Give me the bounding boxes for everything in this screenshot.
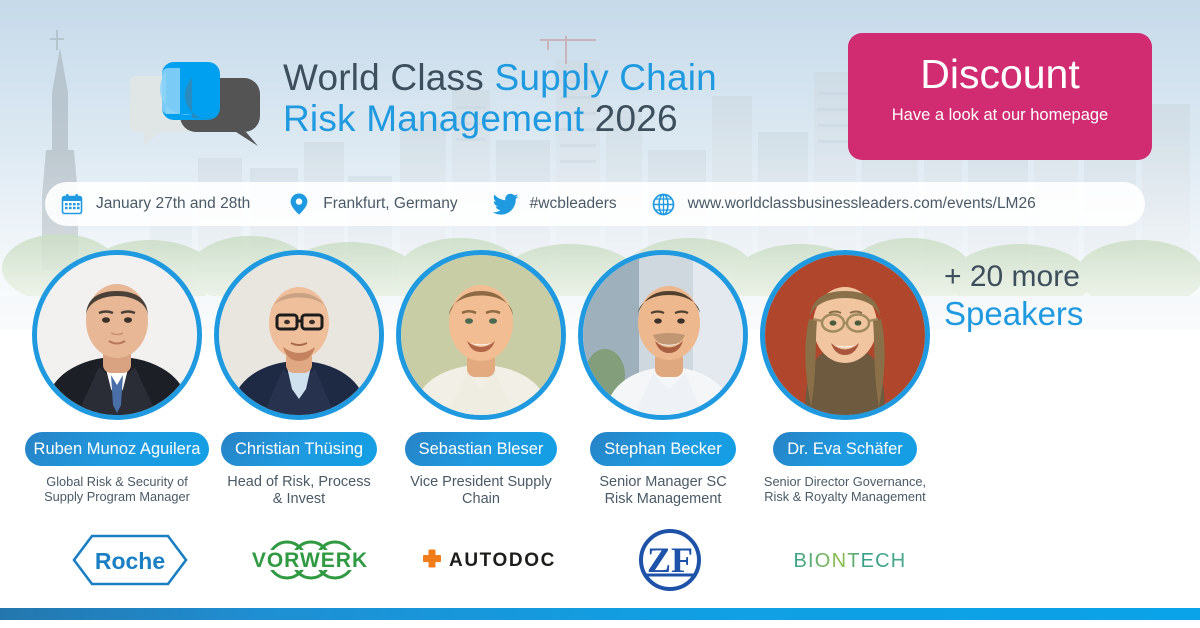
- twitter-icon: [493, 191, 519, 217]
- info-date-text: January 27th and 28th: [96, 195, 250, 213]
- speaker-photo-4: [578, 250, 748, 420]
- speaker-card-5[interactable]: Dr. Eva Schäfer Senior Director Governan…: [753, 250, 937, 505]
- speaker-role-5: Senior Director Governance, Risk & Royal…: [753, 474, 937, 505]
- speaker-photo-3: [396, 250, 566, 420]
- speaker-card-1[interactable]: Ruben Munoz Aguilera Global Risk & Secur…: [25, 250, 209, 505]
- vorwerk-logo: VORWERK: [243, 532, 378, 588]
- speaker-card-2[interactable]: Christian Thüsing Head of Risk, Process …: [207, 250, 391, 509]
- svg-text:Roche: Roche: [95, 548, 165, 574]
- speaker-card-3[interactable]: Sebastian Bleser Vice President Supply C…: [389, 250, 573, 509]
- title-supply-chain: Supply Chain: [494, 57, 717, 98]
- info-item-twitter[interactable]: #wcbleaders: [493, 182, 617, 226]
- speaker-name-3: Sebastian Bleser: [405, 432, 558, 466]
- speaker-name-2: Christian Thüsing: [221, 432, 377, 466]
- svg-text:ZF: ZF: [647, 540, 693, 580]
- speaker-card-4[interactable]: Stephan Becker Senior Manager SC Risk Ma…: [571, 250, 755, 509]
- title-line-2: Risk Management 2026: [283, 98, 717, 139]
- calendar-icon: [59, 191, 85, 217]
- promo-banner: World Class Supply Chain Risk Management…: [0, 0, 1200, 628]
- info-item-website[interactable]: www.worldclassbusinessleaders.com/events…: [651, 182, 1036, 226]
- bottom-accent-bar: [0, 608, 1200, 620]
- autodoc-logo: AUTODOC: [415, 540, 565, 580]
- speaker-role-2: Head of Risk, Process & Invest: [207, 474, 391, 509]
- speaker-role-4: Senior Manager SC Risk Management: [571, 474, 755, 509]
- roche-logo: Roche: [70, 532, 190, 588]
- location-pin-icon: [286, 191, 312, 217]
- title-year: 2026: [595, 98, 678, 139]
- more-speakers-block: + 20 more Speakers: [944, 261, 1083, 336]
- more-speakers-label: Speakers: [944, 293, 1083, 335]
- speaker-role-3: Vice President Supply Chain: [389, 474, 573, 509]
- page-title: World Class Supply Chain Risk Management…: [283, 57, 717, 140]
- svg-text:BIONTECH: BIONTECH: [794, 550, 907, 572]
- sponsor-vorwerk: VORWERK: [220, 528, 400, 592]
- event-info-bar: January 27th and 28th Frankfurt, Germany…: [45, 182, 1145, 226]
- title-world-class: World Class: [283, 57, 494, 98]
- info-item-date: January 27th and 28th: [59, 182, 250, 226]
- speaker-name-1: Ruben Munoz Aguilera: [25, 432, 209, 466]
- svg-text:VORWERK: VORWERK: [251, 549, 367, 572]
- sponsor-autodoc: AUTODOC: [400, 528, 580, 592]
- info-item-location: Frankfurt, Germany: [286, 182, 457, 226]
- zf-logo: ZF: [638, 528, 702, 592]
- speaker-photo-2: [214, 250, 384, 420]
- info-website-text: www.worldclassbusinessleaders.com/events…: [688, 195, 1036, 213]
- more-speakers-count: + 20 more: [944, 261, 1083, 293]
- title-line-1: World Class Supply Chain: [283, 57, 717, 98]
- svg-text:AUTODOC: AUTODOC: [449, 550, 556, 571]
- speaker-name-5: Dr. Eva Schäfer: [773, 432, 917, 466]
- sponsor-roche: Roche: [40, 528, 220, 592]
- speaker-name-4: Stephan Becker: [590, 432, 735, 466]
- biontech-logo: BIONTECH: [780, 543, 920, 577]
- globe-icon: [651, 191, 677, 217]
- speaker-photo-5: [760, 250, 930, 420]
- discount-badge[interactable]: Discount Have a look at our homepage: [848, 33, 1152, 160]
- discount-subtitle: Have a look at our homepage: [848, 106, 1152, 125]
- sponsor-logos-row: Roche VORWERK AUTODOC: [40, 528, 940, 592]
- discount-title: Discount: [848, 52, 1152, 96]
- sponsor-zf: ZF: [580, 528, 760, 592]
- info-twitter-text: #wcbleaders: [530, 195, 617, 213]
- speaker-photo-1: [32, 250, 202, 420]
- title-risk-management: Risk Management: [283, 98, 595, 139]
- speaker-role-1: Global Risk & Security of Supply Program…: [25, 474, 209, 505]
- info-location-text: Frankfurt, Germany: [323, 195, 457, 213]
- sponsor-biontech: BIONTECH: [760, 528, 940, 592]
- speech-bubbles-logo: [130, 58, 270, 153]
